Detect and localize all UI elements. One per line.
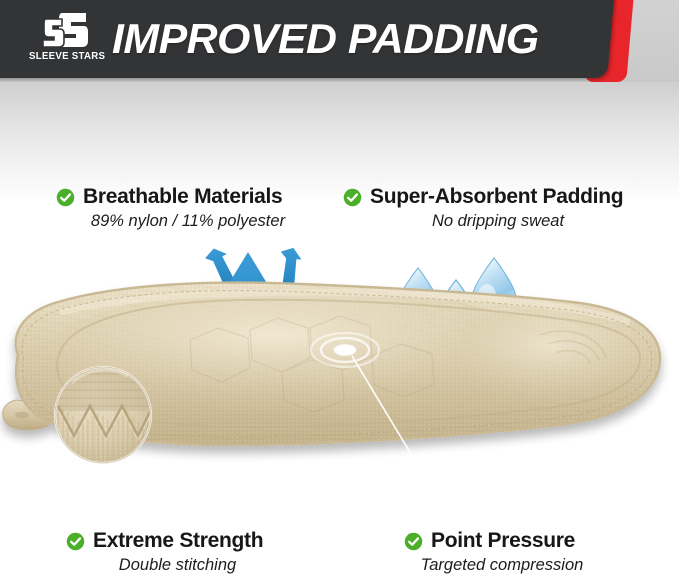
feature-title: Extreme Strength <box>93 529 263 553</box>
pressure-point-icon <box>311 333 379 367</box>
feature-super-absorbent-padding: Super-Absorbent Padding No dripping swea… <box>343 185 653 231</box>
feature-title: Point Pressure <box>431 529 575 553</box>
sleeve-stars-s-monogram-icon <box>40 11 88 49</box>
header-banner: SLEEVE STARS IMPROVED PADDING <box>0 0 679 82</box>
brand-name-label: SLEEVE STARS <box>29 50 99 62</box>
feature-subtitle: Double stitching <box>70 556 285 575</box>
green-check-circle-icon <box>404 532 423 551</box>
stitch-magnifier-icon <box>55 367 152 463</box>
feature-point-pressure: Point Pressure Targeted compression <box>404 529 602 575</box>
body-gradient-backdrop <box>0 82 679 202</box>
product-illustration-svg <box>0 240 679 530</box>
page-title: IMPROVED PADDING <box>112 8 622 70</box>
feature-breathable-materials: Breathable Materials 89% nylon / 11% pol… <box>56 185 317 231</box>
feature-subtitle: 89% nylon / 11% polyester <box>59 212 317 231</box>
product-illustration <box>0 240 679 530</box>
feature-extreme-strength: Extreme Strength Double stitching <box>66 529 285 575</box>
feature-subtitle: Targeted compression <box>402 556 602 575</box>
feature-subtitle: No dripping sweat <box>343 212 653 231</box>
green-check-circle-icon <box>56 188 75 207</box>
brand-logo: SLEEVE STARS <box>26 11 102 69</box>
green-check-circle-icon <box>66 532 85 551</box>
green-check-circle-icon <box>343 188 362 207</box>
feature-title: Super-Absorbent Padding <box>370 185 623 209</box>
feature-title: Breathable Materials <box>83 185 282 209</box>
